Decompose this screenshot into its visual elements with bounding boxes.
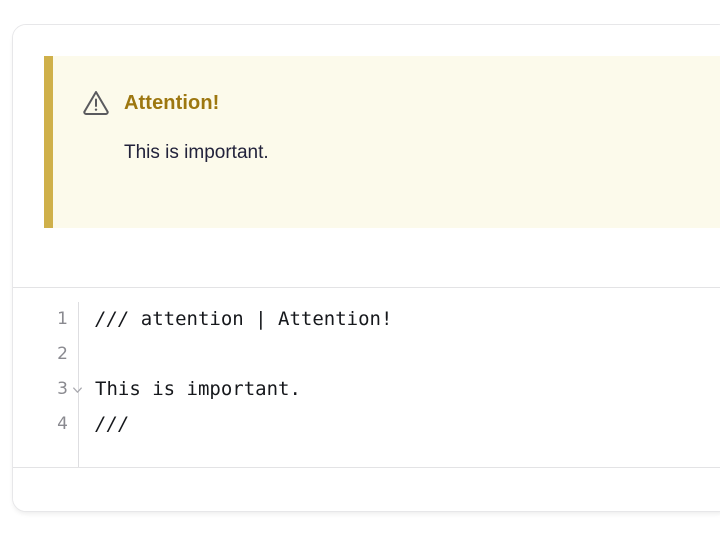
code-line[interactable]: /// attention | Attention! <box>95 302 720 337</box>
screen-root: Attention! This is important. 1 2 3 <box>0 0 720 544</box>
code-line[interactable] <box>95 337 720 372</box>
code-line[interactable]: /// <box>95 407 720 442</box>
card-footer <box>13 468 720 512</box>
chevron-down-icon[interactable] <box>71 383 84 396</box>
admonition-body-text: This is important. <box>53 118 720 166</box>
code-fence-open: /// <box>95 308 129 330</box>
gutter-row: 1 <box>13 302 78 337</box>
line-number: 1 <box>57 311 68 328</box>
admonition-title: Attention! <box>124 93 219 113</box>
line-number: 4 <box>57 416 68 433</box>
admonition-demo-card: Attention! This is important. 1 2 3 <box>12 24 720 512</box>
warning-triangle-icon <box>81 88 111 118</box>
code-fence-close: /// <box>95 413 129 435</box>
admonition-attention: Attention! This is important. <box>44 56 720 228</box>
gutter-row: 3 <box>13 372 78 407</box>
code-content[interactable]: /// attention | Attention! This is impor… <box>79 302 720 467</box>
code-editor[interactable]: 1 2 3 4 /// attention | Attention! <box>13 288 720 468</box>
code-text: attention | Attention! <box>129 308 392 330</box>
admonition-header: Attention! <box>53 56 720 118</box>
gutter-row: 2 <box>13 337 78 372</box>
code-text: This is important. <box>95 378 301 400</box>
preview-pane: Attention! This is important. <box>13 25 720 288</box>
line-number: 2 <box>57 346 68 363</box>
line-number: 3 <box>57 381 68 398</box>
code-line[interactable]: This is important. <box>95 372 720 407</box>
line-number-gutter: 1 2 3 4 <box>13 302 79 467</box>
gutter-row: 4 <box>13 407 78 442</box>
